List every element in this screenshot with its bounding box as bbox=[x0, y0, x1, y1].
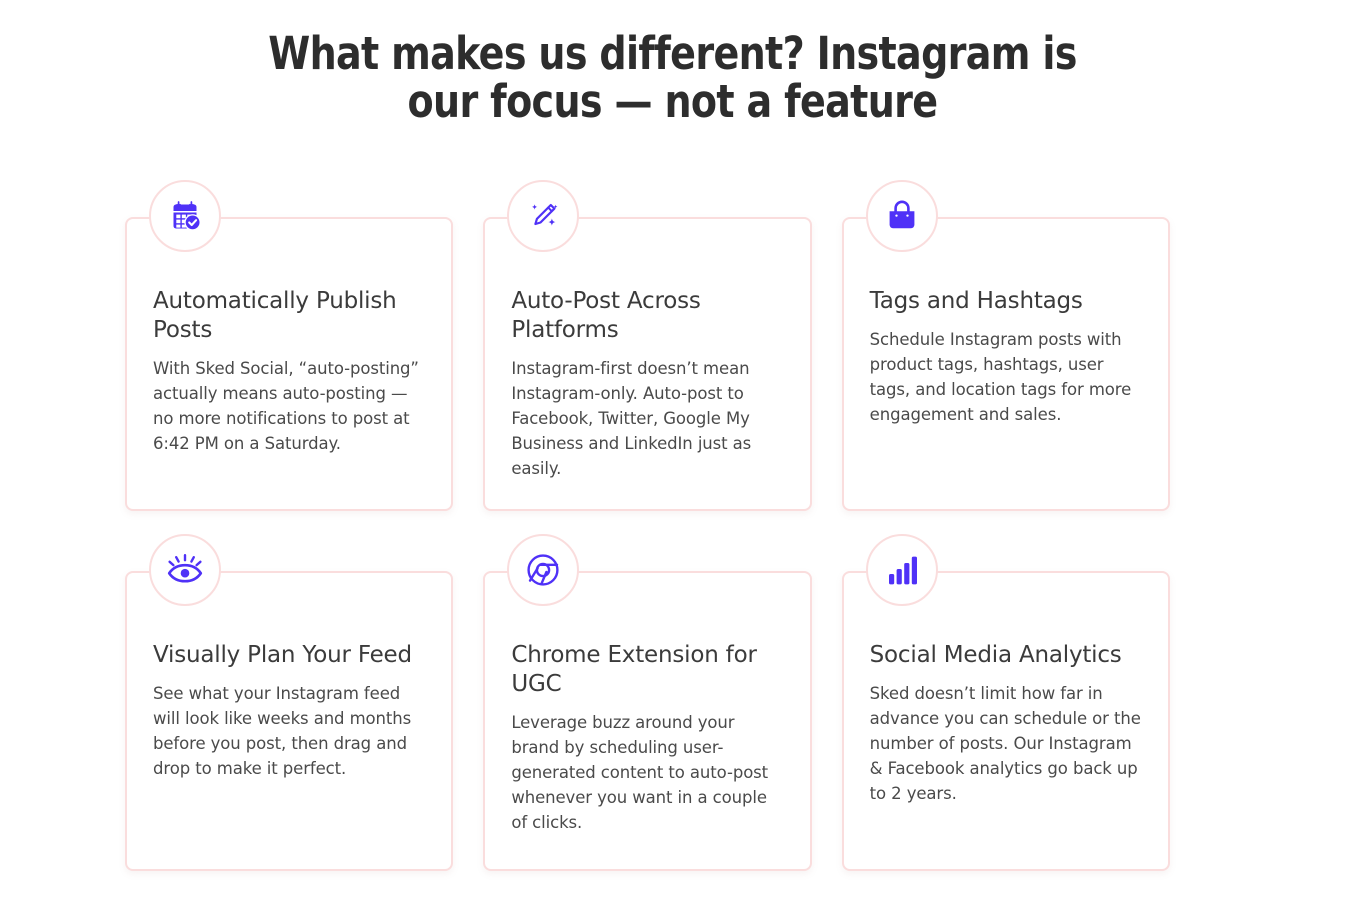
feature-card[interactable]: Social Media Analytics Sked doesn’t limi… bbox=[842, 571, 1170, 871]
feature-card-title: Auto-Post Across Platforms bbox=[511, 287, 783, 345]
feature-card-row: Visually Plan Your Feed See what your In… bbox=[125, 571, 1170, 871]
feature-card-title: Chrome Extension for UGC bbox=[511, 641, 783, 699]
feature-card[interactable]: Visually Plan Your Feed See what your In… bbox=[125, 571, 453, 871]
feature-card-title: Visually Plan Your Feed bbox=[153, 641, 425, 670]
magic-pencil-sparkle-icon bbox=[507, 180, 579, 252]
page-title: What makes us different? Instagram is ou… bbox=[40, 30, 1304, 126]
feature-card-grid: Automatically Publish Posts With Sked So… bbox=[125, 217, 1170, 919]
feature-card-body: Sked doesn’t limit how far in advance yo… bbox=[870, 681, 1142, 806]
feature-card-body: With Sked Social, “auto-posting” actuall… bbox=[153, 356, 425, 456]
feature-card[interactable]: Automatically Publish Posts With Sked So… bbox=[125, 217, 453, 511]
feature-card-body: Schedule Instagram posts with product ta… bbox=[870, 327, 1142, 427]
feature-card-title: Tags and Hashtags bbox=[870, 287, 1142, 316]
feature-card-body: Instagram-first doesn’t mean Instagram-o… bbox=[511, 356, 783, 481]
feature-card[interactable]: Auto-Post Across Platforms Instagram-fir… bbox=[483, 217, 811, 511]
feature-grid-page: What makes us different? Instagram is ou… bbox=[0, 0, 1345, 919]
feature-card-body: See what your Instagram feed will look l… bbox=[153, 681, 425, 781]
feature-card[interactable]: Tags and Hashtags Schedule Instagram pos… bbox=[842, 217, 1170, 511]
shopping-bag-icon bbox=[866, 180, 938, 252]
eye-icon bbox=[149, 534, 221, 606]
feature-card-title: Automatically Publish Posts bbox=[153, 287, 425, 345]
feature-card-body: Leverage buzz around your brand by sched… bbox=[511, 710, 783, 835]
calendar-check-icon bbox=[149, 180, 221, 252]
feature-card-row: Automatically Publish Posts With Sked So… bbox=[125, 217, 1170, 511]
feature-card-title: Social Media Analytics bbox=[870, 641, 1142, 670]
chrome-icon bbox=[507, 534, 579, 606]
bar-chart-icon bbox=[866, 534, 938, 606]
feature-card[interactable]: Chrome Extension for UGC Leverage buzz a… bbox=[483, 571, 811, 871]
